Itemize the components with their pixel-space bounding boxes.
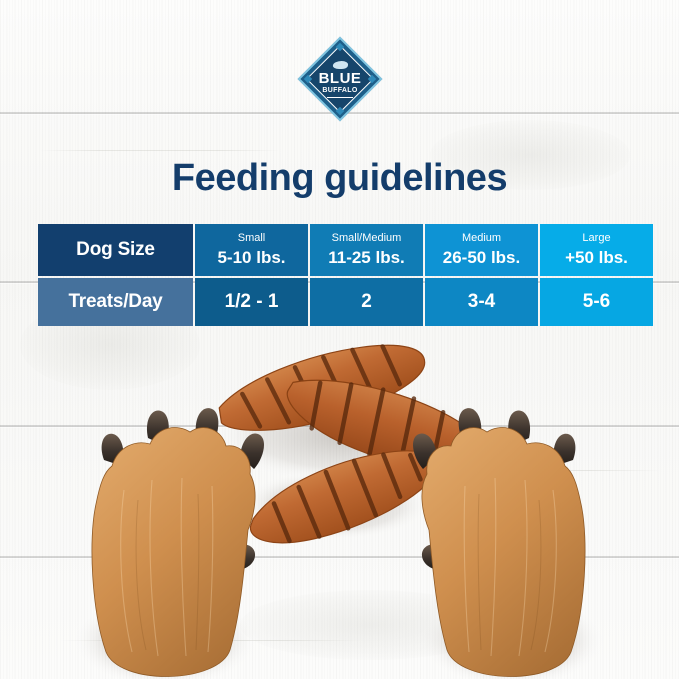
row-label-treats-per-day: Treats/Day (38, 278, 193, 326)
size-label: Large (542, 232, 651, 246)
logo-underline (327, 97, 353, 98)
page-title: Feeding guidelines (0, 157, 679, 200)
row-label-dog-size: Dog Size (38, 224, 193, 276)
weight-range: 26-50 lbs. (427, 247, 536, 268)
logo-text-block: BLUE BUFFALO (302, 41, 378, 117)
size-label: Small (197, 232, 306, 246)
weight-range: 5-10 lbs. (197, 247, 306, 268)
value-cell-medium: 3-4 (425, 278, 538, 326)
feeding-guidelines-table: Dog Size Small 5-10 lbs. Small/Medium 11… (36, 222, 655, 328)
buffalo-icon (332, 61, 348, 69)
weight-range: +50 lbs. (542, 247, 651, 268)
dog-paw-left (73, 408, 264, 679)
size-label: Medium (427, 232, 536, 246)
weight-range: 11-25 lbs. (312, 247, 421, 268)
header-cell-small-medium: Small/Medium 11-25 lbs. (310, 224, 423, 276)
header-cell-large: Large +50 lbs. (540, 224, 653, 276)
header-cell-medium: Medium 26-50 lbs. (425, 224, 538, 276)
wood-grain (40, 150, 280, 151)
feeding-guidelines-image: BLUE BUFFALO Feeding guidelines Dog Size… (0, 0, 679, 679)
logo-word-buffalo: BUFFALO (322, 87, 357, 94)
value-cell-small: 1/2 - 1 (195, 278, 308, 326)
table-row-header: Dog Size Small 5-10 lbs. Small/Medium 11… (38, 224, 653, 276)
product-photo (0, 340, 679, 679)
size-label: Small/Medium (312, 232, 421, 246)
header-cell-small: Small 5-10 lbs. (195, 224, 308, 276)
logo-word-blue: BLUE (319, 71, 362, 86)
dog-paw-right (413, 408, 604, 679)
value-cell-small-medium: 2 (310, 278, 423, 326)
table-row-treats: Treats/Day 1/2 - 1 2 3-4 5-6 (38, 278, 653, 326)
blue-buffalo-logo: BLUE BUFFALO (302, 41, 378, 117)
value-cell-large: 5-6 (540, 278, 653, 326)
